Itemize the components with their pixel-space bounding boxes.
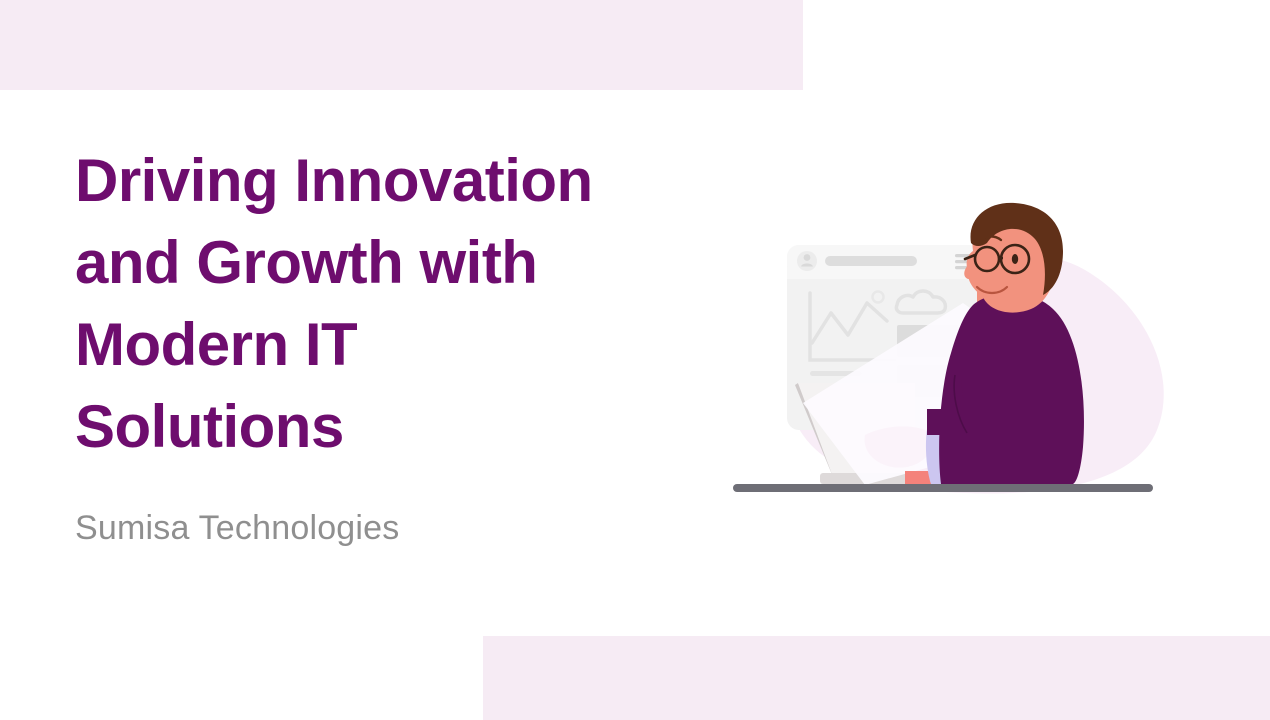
eye [1012, 254, 1018, 264]
subtitle: Sumisa Technologies [75, 508, 399, 548]
person-working-at-laptop-illustration [715, 185, 1175, 515]
slide-canvas: Driving Innovation and Growth with Moder… [0, 0, 1270, 720]
top-pink-band [0, 0, 803, 90]
avatar-icon [797, 251, 817, 271]
desk-line [733, 484, 1153, 492]
address-bar [825, 256, 917, 266]
page-title: Driving Innovation and Growth with Moder… [75, 140, 675, 468]
text-column: Driving Innovation and Growth with Moder… [75, 140, 675, 468]
bottom-pink-band [483, 636, 1270, 720]
